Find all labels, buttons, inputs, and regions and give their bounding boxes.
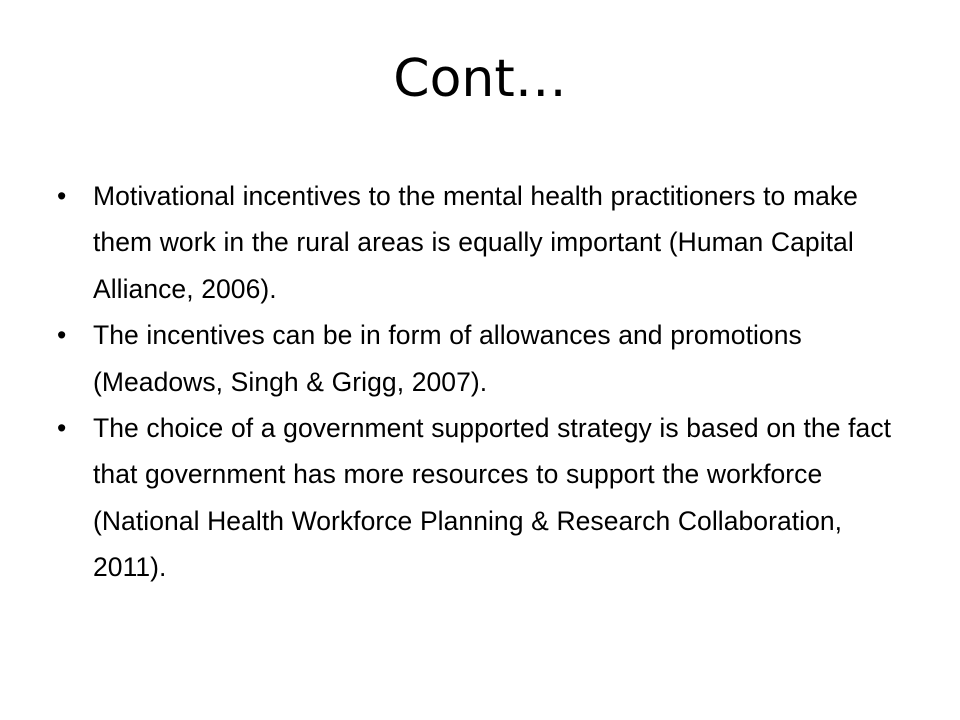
presentation-slide: Cont… • Motivational incentives to the m… bbox=[0, 0, 960, 720]
bullet-point-icon: • bbox=[57, 312, 77, 358]
list-item: • Motivational incentives to the mental … bbox=[56, 173, 912, 312]
list-item-text: The choice of a government supported str… bbox=[93, 405, 912, 591]
bullet-list: • Motivational incentives to the mental … bbox=[56, 173, 912, 591]
bullet-point-icon: • bbox=[57, 173, 77, 219]
list-item-text: The incentives can be in form of allowan… bbox=[93, 312, 912, 405]
list-item: • The incentives can be in form of allow… bbox=[56, 312, 912, 405]
list-item-text: Motivational incentives to the mental he… bbox=[93, 173, 912, 312]
list-item: • The choice of a government supported s… bbox=[56, 405, 912, 591]
page-title: Cont… bbox=[0, 48, 960, 110]
bullet-point-icon: • bbox=[57, 405, 77, 451]
